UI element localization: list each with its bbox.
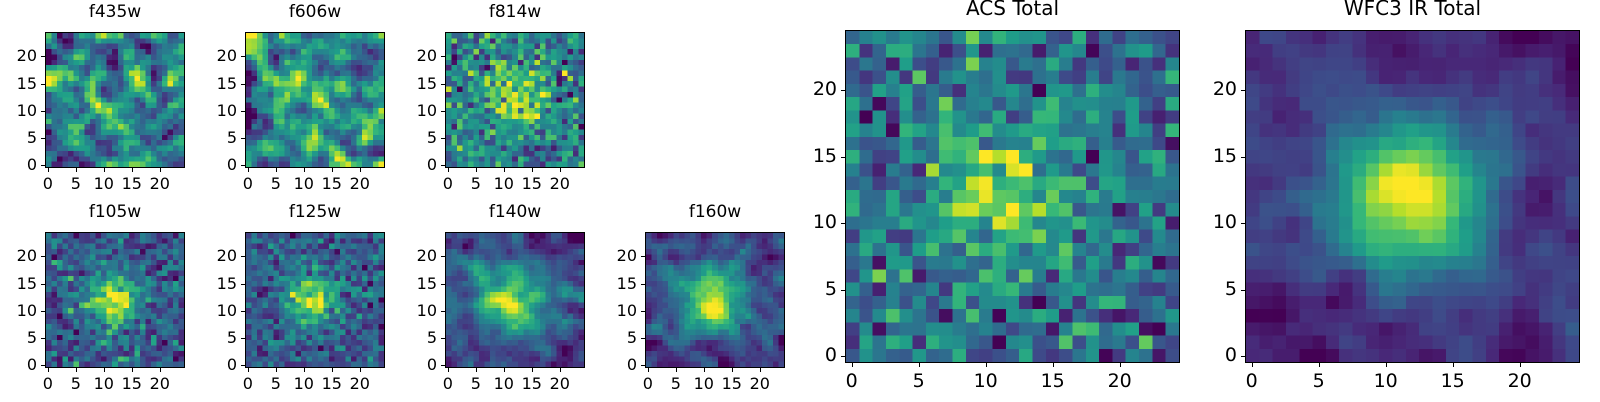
x-tick-label-wfc3_ir_total-5: 5 (1299, 372, 1339, 391)
x-tick-f105w-0 (48, 368, 49, 372)
x-tick-label-acs_total-20: 20 (1100, 372, 1140, 391)
x-tick-acs_total-15 (1053, 363, 1054, 367)
x-tick-label-wfc3_ir_total-20: 20 (1500, 372, 1540, 391)
x-tick-acs_total-10 (986, 363, 987, 367)
x-tick-f160w-20 (760, 368, 761, 372)
x-tick-label-f160w-20: 20 (740, 376, 780, 392)
y-tick-label-f814w-5: 5 (391, 130, 437, 146)
y-tick-label-f160w-10: 10 (591, 303, 637, 319)
y-tick-f125w-10 (241, 311, 245, 312)
y-tick-label-wfc3_ir_total-15: 15 (1191, 147, 1237, 166)
x-tick-wfc3_ir_total-0 (1252, 363, 1253, 367)
x-tick-label-f125w-20: 20 (340, 376, 380, 392)
x-tick-f125w-0 (248, 368, 249, 372)
y-tick-f814w-0 (441, 165, 445, 166)
x-tick-f105w-20 (160, 368, 161, 372)
x-tick-f814w-15 (532, 168, 533, 172)
heatmap-image-f105w (45, 232, 185, 368)
x-tick-label-acs_total-5: 5 (899, 372, 939, 391)
heatmap-image-f435w (45, 32, 185, 168)
y-tick-label-f105w-5: 5 (0, 330, 37, 346)
x-tick-label-f814w-20: 20 (540, 176, 580, 192)
heatmap-image-f160w (645, 232, 785, 368)
y-tick-f125w-15 (241, 284, 245, 285)
x-tick-acs_total-0 (852, 363, 853, 367)
y-tick-acs_total-0 (841, 356, 845, 357)
panel-title-f435w: f435w (45, 4, 185, 21)
y-tick-label-f105w-10: 10 (0, 303, 37, 319)
panel-title-wfc3_ir_total: WFC3 IR Total (1245, 0, 1580, 18)
y-tick-acs_total-5 (841, 290, 845, 291)
y-tick-wfc3_ir_total-5 (1241, 290, 1245, 291)
x-tick-f606w-10 (304, 168, 305, 172)
x-tick-f814w-20 (560, 168, 561, 172)
y-tick-label-f435w-0: 0 (0, 157, 37, 173)
panel-title-f125w: f125w (245, 204, 385, 221)
x-tick-label-acs_total-15: 15 (1033, 372, 1073, 391)
y-tick-f814w-10 (441, 111, 445, 112)
y-tick-f160w-5 (641, 338, 645, 339)
x-tick-f105w-15 (132, 368, 133, 372)
heatmap-image-f606w (245, 32, 385, 168)
y-tick-f125w-5 (241, 338, 245, 339)
y-tick-f435w-0 (41, 165, 45, 166)
y-tick-label-acs_total-0: 0 (791, 346, 837, 365)
y-tick-f435w-20 (41, 56, 45, 57)
x-tick-acs_total-5 (919, 363, 920, 367)
x-tick-f814w-5 (476, 168, 477, 172)
y-tick-wfc3_ir_total-15 (1241, 157, 1245, 158)
y-tick-label-acs_total-10: 10 (791, 213, 837, 232)
x-tick-wfc3_ir_total-20 (1520, 363, 1521, 367)
x-tick-label-wfc3_ir_total-15: 15 (1433, 372, 1473, 391)
x-tick-f606w-15 (332, 168, 333, 172)
x-tick-f140w-10 (504, 368, 505, 372)
y-tick-label-f606w-20: 20 (191, 48, 237, 64)
y-tick-f160w-0 (641, 365, 645, 366)
y-tick-label-f814w-0: 0 (391, 157, 437, 173)
y-tick-wfc3_ir_total-20 (1241, 90, 1245, 91)
x-tick-wfc3_ir_total-10 (1386, 363, 1387, 367)
y-tick-label-f160w-0: 0 (591, 357, 637, 373)
y-tick-f435w-15 (41, 84, 45, 85)
y-tick-f160w-20 (641, 256, 645, 257)
y-tick-label-f814w-10: 10 (391, 103, 437, 119)
y-tick-wfc3_ir_total-10 (1241, 223, 1245, 224)
x-tick-f140w-15 (532, 368, 533, 372)
y-tick-label-f125w-10: 10 (191, 303, 237, 319)
y-tick-label-f435w-5: 5 (0, 130, 37, 146)
y-tick-label-f435w-10: 10 (0, 103, 37, 119)
y-tick-f140w-15 (441, 284, 445, 285)
y-tick-label-f160w-5: 5 (591, 330, 637, 346)
heatmap-image-f814w (445, 32, 585, 168)
x-tick-wfc3_ir_total-15 (1453, 363, 1454, 367)
y-tick-label-f160w-20: 20 (591, 248, 637, 264)
y-tick-label-f125w-5: 5 (191, 330, 237, 346)
y-tick-label-f814w-15: 15 (391, 76, 437, 92)
panel-title-f814w: f814w (445, 4, 585, 21)
y-tick-f140w-5 (441, 338, 445, 339)
x-tick-f435w-15 (132, 168, 133, 172)
x-tick-f435w-0 (48, 168, 49, 172)
y-tick-label-f125w-20: 20 (191, 248, 237, 264)
y-tick-label-wfc3_ir_total-10: 10 (1191, 213, 1237, 232)
y-tick-label-f140w-10: 10 (391, 303, 437, 319)
y-tick-f606w-20 (241, 56, 245, 57)
y-tick-label-f125w-15: 15 (191, 276, 237, 292)
y-tick-f814w-20 (441, 56, 445, 57)
y-tick-f814w-15 (441, 84, 445, 85)
x-tick-label-wfc3_ir_total-10: 10 (1366, 372, 1406, 391)
y-tick-f140w-0 (441, 365, 445, 366)
panel-title-f140w: f140w (445, 204, 585, 221)
y-tick-label-acs_total-15: 15 (791, 147, 837, 166)
y-tick-label-f105w-20: 20 (0, 248, 37, 264)
x-tick-f606w-5 (276, 168, 277, 172)
y-tick-label-f105w-0: 0 (0, 357, 37, 373)
y-tick-acs_total-10 (841, 223, 845, 224)
panel-acs_total: ACS Total0510152005101520 (785, 0, 1240, 397)
y-tick-label-f160w-15: 15 (591, 276, 637, 292)
y-tick-label-acs_total-5: 5 (791, 280, 837, 299)
x-tick-acs_total-20 (1120, 363, 1121, 367)
y-tick-f160w-15 (641, 284, 645, 285)
y-tick-f105w-10 (41, 311, 45, 312)
x-tick-f814w-10 (504, 168, 505, 172)
y-tick-label-wfc3_ir_total-5: 5 (1191, 280, 1237, 299)
x-tick-f125w-20 (360, 368, 361, 372)
y-tick-f105w-5 (41, 338, 45, 339)
x-tick-f105w-10 (104, 368, 105, 372)
y-tick-f105w-20 (41, 256, 45, 257)
x-tick-f140w-0 (448, 368, 449, 372)
x-tick-f160w-5 (676, 368, 677, 372)
y-tick-f435w-5 (41, 138, 45, 139)
x-tick-label-acs_total-0: 0 (832, 372, 872, 391)
y-tick-f105w-15 (41, 284, 45, 285)
x-tick-f606w-0 (248, 168, 249, 172)
x-tick-f814w-0 (448, 168, 449, 172)
x-tick-wfc3_ir_total-5 (1319, 363, 1320, 367)
x-tick-f140w-20 (560, 368, 561, 372)
x-tick-f140w-5 (476, 368, 477, 372)
panel-f814w: f814w0510152005101520 (385, 4, 645, 202)
x-tick-f160w-0 (648, 368, 649, 372)
y-tick-label-f140w-15: 15 (391, 276, 437, 292)
y-tick-label-wfc3_ir_total-0: 0 (1191, 346, 1237, 365)
panel-title-f606w: f606w (245, 4, 385, 21)
y-tick-acs_total-20 (841, 90, 845, 91)
panel-wfc3_ir_total: WFC3 IR Total0510152005101520 (1185, 0, 1600, 397)
panel-title-acs_total: ACS Total (845, 0, 1180, 18)
y-tick-acs_total-15 (841, 157, 845, 158)
x-tick-label-f435w-20: 20 (140, 176, 180, 192)
y-tick-label-f125w-0: 0 (191, 357, 237, 373)
y-tick-f606w-10 (241, 111, 245, 112)
y-tick-label-wfc3_ir_total-20: 20 (1191, 80, 1237, 99)
x-tick-f125w-5 (276, 368, 277, 372)
x-tick-f125w-15 (332, 368, 333, 372)
y-tick-wfc3_ir_total-0 (1241, 356, 1245, 357)
y-tick-f814w-5 (441, 138, 445, 139)
y-tick-label-f105w-15: 15 (0, 276, 37, 292)
x-tick-f606w-20 (360, 168, 361, 172)
y-tick-f606w-15 (241, 84, 245, 85)
x-tick-f105w-5 (76, 368, 77, 372)
y-tick-label-f606w-0: 0 (191, 157, 237, 173)
heatmap-image-acs_total (845, 30, 1180, 363)
x-tick-label-acs_total-10: 10 (966, 372, 1006, 391)
y-tick-label-f606w-10: 10 (191, 103, 237, 119)
figure-canvas: f435w0510152005101520f606w05101520051015… (0, 0, 1600, 400)
y-tick-f140w-10 (441, 311, 445, 312)
heatmap-image-f140w (445, 232, 585, 368)
x-tick-f160w-10 (704, 368, 705, 372)
x-tick-f435w-5 (76, 168, 77, 172)
y-tick-label-f606w-5: 5 (191, 130, 237, 146)
y-tick-f606w-5 (241, 138, 245, 139)
x-tick-f435w-20 (160, 168, 161, 172)
panel-title-f160w: f160w (645, 204, 785, 221)
y-tick-f125w-0 (241, 365, 245, 366)
y-tick-label-f435w-20: 20 (0, 48, 37, 64)
heatmap-image-f125w (245, 232, 385, 368)
x-tick-f125w-10 (304, 368, 305, 372)
y-tick-label-acs_total-20: 20 (791, 80, 837, 99)
y-tick-f606w-0 (241, 165, 245, 166)
y-tick-label-f140w-0: 0 (391, 357, 437, 373)
x-tick-f435w-10 (104, 168, 105, 172)
y-tick-label-f606w-15: 15 (191, 76, 237, 92)
x-tick-label-f606w-20: 20 (340, 176, 380, 192)
panel-title-f105w: f105w (45, 204, 185, 221)
y-tick-f105w-0 (41, 365, 45, 366)
y-tick-f125w-20 (241, 256, 245, 257)
x-tick-label-wfc3_ir_total-0: 0 (1232, 372, 1272, 391)
x-tick-label-f140w-20: 20 (540, 376, 580, 392)
y-tick-f435w-10 (41, 111, 45, 112)
y-tick-label-f140w-20: 20 (391, 248, 437, 264)
heatmap-image-wfc3_ir_total (1245, 30, 1580, 363)
y-tick-label-f435w-15: 15 (0, 76, 37, 92)
y-tick-f140w-20 (441, 256, 445, 257)
y-tick-label-f140w-5: 5 (391, 330, 437, 346)
y-tick-f160w-10 (641, 311, 645, 312)
y-tick-label-f814w-20: 20 (391, 48, 437, 64)
x-tick-f160w-15 (732, 368, 733, 372)
x-tick-label-f105w-20: 20 (140, 376, 180, 392)
